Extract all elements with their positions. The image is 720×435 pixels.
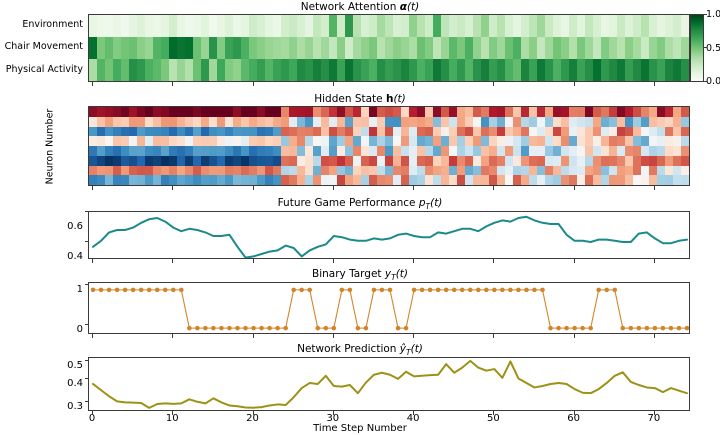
- heatmap-cell: [417, 107, 425, 117]
- heatmap-cell: [497, 166, 505, 176]
- heatmap-cell: [201, 156, 209, 166]
- heatmap-cell: [425, 136, 433, 146]
- heatmap-cell: [425, 175, 433, 185]
- binary-target-marker: [661, 326, 666, 331]
- heatmap-cell: [633, 37, 641, 59]
- heatmap-cell: [529, 166, 537, 176]
- heatmap-cell: [281, 59, 289, 81]
- heatmap-cell: [161, 156, 169, 166]
- heatmap-cell: [281, 156, 289, 166]
- heatmap-cell: [297, 156, 305, 166]
- heatmap-cell: [305, 117, 313, 127]
- heatmap-cell: [153, 37, 161, 59]
- binary-target-marker: [604, 288, 609, 293]
- heatmap-cell: [113, 117, 121, 127]
- attention-row-label-2: Physical Activity: [0, 64, 83, 75]
- hidden-state-row-1: [89, 117, 689, 127]
- heatmap-cell: [593, 166, 601, 176]
- performance-axes: [88, 211, 690, 259]
- heatmap-cell: [665, 127, 673, 137]
- x-tickmark: [574, 411, 575, 415]
- heatmap-cell: [345, 15, 353, 37]
- heatmap-cell: [185, 146, 193, 156]
- heatmap-cell: [601, 175, 609, 185]
- heatmap-cell: [457, 15, 465, 37]
- binary-target-marker: [131, 288, 136, 293]
- heatmap-cell: [201, 59, 209, 81]
- heatmap-cell: [385, 146, 393, 156]
- heatmap-cell: [297, 175, 305, 185]
- heatmap-cell: [377, 156, 385, 166]
- heatmap-cell: [289, 15, 297, 37]
- heatmap-cell: [305, 175, 313, 185]
- heatmap-cell: [177, 175, 185, 185]
- heatmap-cell: [137, 136, 145, 146]
- heatmap-cell: [281, 15, 289, 37]
- heatmap-cell: [393, 146, 401, 156]
- heatmap-cell: [617, 175, 625, 185]
- heatmap-cell: [609, 136, 617, 146]
- heatmap-cell: [113, 15, 121, 37]
- heatmap-cell: [409, 59, 417, 81]
- heatmap-cell: [145, 107, 153, 117]
- x-tickmark: [92, 186, 93, 190]
- heatmap-cell: [313, 146, 321, 156]
- heatmap-cell: [385, 175, 393, 185]
- heatmap-cell: [329, 166, 337, 176]
- heatmap-cell: [273, 37, 281, 59]
- heatmap-cell: [265, 136, 273, 146]
- heatmap-cell: [473, 37, 481, 59]
- heatmap-cell: [425, 37, 433, 59]
- heatmap-cell: [209, 107, 217, 117]
- heatmap-cell: [129, 166, 137, 176]
- heatmap-cell: [369, 59, 377, 81]
- heatmap-cell: [89, 136, 97, 146]
- heatmap-cell: [673, 107, 681, 117]
- heatmap-cell: [593, 127, 601, 137]
- heatmap-cell: [609, 107, 617, 117]
- heatmap-cell: [585, 127, 593, 137]
- heatmap-cell: [313, 156, 321, 166]
- heatmap-cell: [281, 37, 289, 59]
- heatmap-cell: [657, 166, 665, 176]
- heatmap-cell: [505, 136, 513, 146]
- heatmap-cell: [329, 107, 337, 117]
- heatmap-cell: [545, 15, 553, 37]
- binary-target-marker: [147, 288, 152, 293]
- heatmap-cell: [625, 146, 633, 156]
- heatmap-cell: [385, 59, 393, 81]
- heatmap-cell: [169, 107, 177, 117]
- heatmap-cell: [553, 166, 561, 176]
- heatmap-cell: [177, 59, 185, 81]
- heatmap-cell: [585, 37, 593, 59]
- heatmap-cell: [577, 175, 585, 185]
- heatmap-cell: [513, 146, 521, 156]
- heatmap-cell: [553, 175, 561, 185]
- heatmap-cell: [97, 107, 105, 117]
- heatmap-cell: [345, 156, 353, 166]
- hidden-state-row-6: [89, 166, 689, 176]
- heatmap-cell: [665, 156, 673, 166]
- attention-row-0: [89, 15, 689, 37]
- binary-target-marker: [524, 288, 529, 293]
- heatmap-cell: [489, 166, 497, 176]
- heatmap-cell: [177, 117, 185, 127]
- heatmap-cell: [177, 166, 185, 176]
- heatmap-cell: [217, 127, 225, 137]
- heatmap-cell: [665, 107, 673, 117]
- heatmap-cell: [369, 136, 377, 146]
- heatmap-cell: [289, 117, 297, 127]
- x-tickmark: [92, 82, 93, 86]
- heatmap-cell: [529, 146, 537, 156]
- heatmap-cell: [377, 37, 385, 59]
- x-tickmark: [92, 411, 93, 415]
- heatmap-cell: [265, 127, 273, 137]
- heatmap-cell: [353, 127, 361, 137]
- heatmap-cell: [401, 37, 409, 59]
- heatmap-cell: [417, 127, 425, 137]
- heatmap-cell: [257, 107, 265, 117]
- heatmap-cell: [161, 59, 169, 81]
- binary-target-marker: [516, 288, 521, 293]
- heatmap-cell: [633, 156, 641, 166]
- heatmap-cell: [233, 136, 241, 146]
- heatmap-cell: [465, 117, 473, 127]
- heatmap-cell: [601, 37, 609, 59]
- heatmap-cell: [233, 59, 241, 81]
- heatmap-cell: [97, 59, 105, 81]
- heatmap-cell: [569, 136, 577, 146]
- heatmap-cell: [609, 117, 617, 127]
- colorbar-tickmark: [704, 47, 707, 48]
- heatmap-cell: [217, 117, 225, 127]
- heatmap-cell: [601, 117, 609, 127]
- heatmap-cell: [529, 37, 537, 59]
- heatmap-cell: [497, 127, 505, 137]
- heatmap-cell: [681, 117, 689, 127]
- heatmap-cell: [185, 107, 193, 117]
- performance-title: Future Game Performance pT(t): [0, 197, 720, 211]
- heatmap-cell: [409, 15, 417, 37]
- hidden-state-title: Hidden State h(t): [0, 93, 720, 105]
- heatmap-cell: [241, 15, 249, 37]
- heatmap-cell: [617, 59, 625, 81]
- heatmap-cell: [233, 117, 241, 127]
- heatmap-cell: [513, 166, 521, 176]
- binary-target-marker: [275, 326, 280, 331]
- heatmap-cell: [265, 15, 273, 37]
- heatmap-cell: [545, 117, 553, 127]
- heatmap-cell: [489, 156, 497, 166]
- heatmap-cell: [625, 156, 633, 166]
- heatmap-cell: [145, 175, 153, 185]
- heatmap-cell: [385, 107, 393, 117]
- heatmap-cell: [441, 37, 449, 59]
- heatmap-cell: [241, 59, 249, 81]
- heatmap-cell: [417, 146, 425, 156]
- x-tickmark: [333, 411, 334, 415]
- heatmap-cell: [305, 15, 313, 37]
- heatmap-cell: [257, 59, 265, 81]
- heatmap-cell: [217, 175, 225, 185]
- heatmap-cell: [121, 166, 129, 176]
- heatmap-cell: [329, 15, 337, 37]
- heatmap-cell: [209, 166, 217, 176]
- heatmap-cell: [249, 156, 257, 166]
- heatmap-cell: [329, 117, 337, 127]
- x-tickmark: [574, 82, 575, 86]
- heatmap-cell: [561, 166, 569, 176]
- heatmap-cell: [281, 136, 289, 146]
- attention-colorbar: [690, 14, 704, 82]
- heatmap-cell: [537, 127, 545, 137]
- heatmap-cell: [369, 127, 377, 137]
- heatmap-cell: [249, 175, 257, 185]
- heatmap-cell: [673, 146, 681, 156]
- heatmap-cell: [129, 117, 137, 127]
- heatmap-cell: [641, 175, 649, 185]
- heatmap-cell: [113, 156, 121, 166]
- heatmap-cell: [377, 15, 385, 37]
- heatmap-cell: [225, 175, 233, 185]
- heatmap-cell: [113, 146, 121, 156]
- heatmap-cell: [593, 15, 601, 37]
- heatmap-cell: [585, 156, 593, 166]
- heatmap-cell: [337, 107, 345, 117]
- heatmap-cell: [417, 59, 425, 81]
- heatmap-cell: [449, 175, 457, 185]
- heatmap-cell: [433, 127, 441, 137]
- heatmap-cell: [673, 127, 681, 137]
- heatmap-cell: [609, 146, 617, 156]
- heatmap-cell: [329, 127, 337, 137]
- heatmap-cell: [313, 136, 321, 146]
- heatmap-cell: [433, 37, 441, 59]
- binary-target-marker: [203, 326, 208, 331]
- binary-target-marker: [179, 288, 184, 293]
- heatmap-cell: [641, 156, 649, 166]
- heatmap-cell: [441, 156, 449, 166]
- heatmap-cell: [401, 15, 409, 37]
- heatmap-cell: [345, 127, 353, 137]
- heatmap-cell: [249, 166, 257, 176]
- binary-target-marker: [677, 326, 682, 331]
- binary-target-marker: [653, 326, 658, 331]
- heatmap-cell: [169, 117, 177, 127]
- heatmap-cell: [489, 117, 497, 127]
- heatmap-cell: [465, 146, 473, 156]
- heatmap-cell: [177, 136, 185, 146]
- heatmap-cell: [441, 107, 449, 117]
- heatmap-cell: [409, 107, 417, 117]
- binary-target-marker: [388, 288, 393, 293]
- heatmap-cell: [153, 136, 161, 146]
- heatmap-cell: [193, 15, 201, 37]
- heatmap-cell: [673, 15, 681, 37]
- heatmap-cell: [225, 117, 233, 127]
- heatmap-cell: [345, 146, 353, 156]
- heatmap-cell: [473, 166, 481, 176]
- heatmap-cell: [97, 146, 105, 156]
- heatmap-cell: [321, 175, 329, 185]
- binary-target-marker: [436, 288, 441, 293]
- heatmap-cell: [641, 127, 649, 137]
- heatmap-cell: [481, 146, 489, 156]
- colorbar-tick-1: 1.0: [706, 9, 720, 20]
- binary-target-scatter-plot: [89, 283, 690, 334]
- heatmap-cell: [545, 136, 553, 146]
- heatmap-cell: [601, 136, 609, 146]
- heatmap-cell: [129, 156, 137, 166]
- heatmap-cell: [649, 107, 657, 117]
- heatmap-cell: [241, 107, 249, 117]
- heatmap-cell: [169, 136, 177, 146]
- heatmap-cell: [385, 156, 393, 166]
- heatmap-cell: [185, 59, 193, 81]
- heatmap-cell: [225, 127, 233, 137]
- heatmap-cell: [225, 59, 233, 81]
- heatmap-cell: [409, 117, 417, 127]
- heatmap-cell: [417, 15, 425, 37]
- heatmap-cell: [233, 127, 241, 137]
- binary-target-marker: [556, 326, 561, 331]
- heatmap-cell: [265, 37, 273, 59]
- heatmap-cell: [521, 175, 529, 185]
- heatmap-cell: [105, 127, 113, 137]
- heatmap-cell: [121, 107, 129, 117]
- heatmap-cell: [217, 37, 225, 59]
- x-tickmark: [172, 259, 173, 263]
- heatmap-cell: [449, 117, 457, 127]
- heatmap-cell: [609, 166, 617, 176]
- heatmap-cell: [617, 136, 625, 146]
- heatmap-cell: [457, 117, 465, 127]
- x-tickmark: [654, 186, 655, 190]
- heatmap-cell: [513, 136, 521, 146]
- heatmap-cell: [449, 107, 457, 117]
- binary-target-marker: [307, 288, 312, 293]
- heatmap-cell: [137, 146, 145, 156]
- binary-target-marker: [412, 288, 417, 293]
- heatmap-cell: [97, 175, 105, 185]
- heatmap-cell: [353, 37, 361, 59]
- x-tickmark: [172, 82, 173, 86]
- binary-target-marker: [548, 326, 553, 331]
- heatmap-cell: [529, 117, 537, 127]
- heatmap-cell: [113, 37, 121, 59]
- heatmap-cell: [313, 37, 321, 59]
- heatmap-cell: [169, 166, 177, 176]
- heatmap-cell: [417, 156, 425, 166]
- heatmap-cell: [89, 117, 97, 127]
- heatmap-cell: [289, 107, 297, 117]
- heatmap-cell: [393, 156, 401, 166]
- y-tickmark: [85, 360, 89, 361]
- heatmap-cell: [521, 127, 529, 137]
- binary-target-marker: [685, 326, 690, 331]
- heatmap-cell: [641, 117, 649, 127]
- heatmap-cell: [233, 107, 241, 117]
- heatmap-cell: [217, 107, 225, 117]
- heatmap-cell: [281, 166, 289, 176]
- heatmap-cell: [401, 127, 409, 137]
- heatmap-cell: [313, 15, 321, 37]
- heatmap-cell: [321, 127, 329, 137]
- heatmap-cell: [553, 156, 561, 166]
- heatmap-cell: [681, 175, 689, 185]
- heatmap-cell: [353, 156, 361, 166]
- heatmap-cell: [633, 59, 641, 81]
- binary-target-marker: [484, 288, 489, 293]
- heatmap-cell: [145, 37, 153, 59]
- hidden-state-row-0: [89, 107, 689, 117]
- heatmap-cell: [481, 156, 489, 166]
- heatmap-cell: [193, 175, 201, 185]
- heatmap-cell: [505, 37, 513, 59]
- heatmap-cell: [337, 37, 345, 59]
- heatmap-cell: [505, 117, 513, 127]
- heatmap-cell: [337, 127, 345, 137]
- heatmap-cell: [353, 107, 361, 117]
- heatmap-cell: [289, 146, 297, 156]
- heatmap-cell: [313, 117, 321, 127]
- panel-network-attention: Network Attention α(t) Environment Chair…: [0, 0, 720, 92]
- heatmap-cell: [385, 117, 393, 127]
- heatmap-cell: [441, 146, 449, 156]
- heatmap-cell: [585, 59, 593, 81]
- heatmap-cell: [529, 127, 537, 137]
- heatmap-cell: [169, 15, 177, 37]
- heatmap-cell: [601, 59, 609, 81]
- colorbar-tick-0: 0.0: [706, 76, 720, 87]
- heatmap-cell: [209, 156, 217, 166]
- heatmap-cell: [129, 59, 137, 81]
- heatmap-cell: [433, 156, 441, 166]
- performance-line-plot: [89, 212, 690, 259]
- heatmap-cell: [233, 37, 241, 59]
- heatmap-cell: [465, 166, 473, 176]
- heatmap-cell: [545, 107, 553, 117]
- heatmap-cell: [417, 136, 425, 146]
- heatmap-cell: [289, 156, 297, 166]
- heatmap-cell: [257, 127, 265, 137]
- heatmap-cell: [161, 136, 169, 146]
- heatmap-cell: [273, 166, 281, 176]
- heatmap-cell: [617, 37, 625, 59]
- heatmap-cell: [601, 107, 609, 117]
- heatmap-cell: [257, 166, 265, 176]
- heatmap-cell: [521, 107, 529, 117]
- heatmap-cell: [321, 107, 329, 117]
- heatmap-cell: [545, 37, 553, 59]
- prediction-ytick-2: 0.3: [40, 401, 83, 412]
- heatmap-cell: [401, 146, 409, 156]
- x-tickmark: [574, 334, 575, 338]
- heatmap-cell: [489, 15, 497, 37]
- heatmap-cell: [105, 15, 113, 37]
- hidden-state-heatmap: [89, 107, 689, 185]
- heatmap-cell: [633, 15, 641, 37]
- heatmap-cell: [569, 37, 577, 59]
- heatmap-cell: [209, 117, 217, 127]
- heatmap-cell: [169, 146, 177, 156]
- heatmap-cell: [617, 127, 625, 137]
- heatmap-cell: [441, 15, 449, 37]
- heatmap-cell: [105, 59, 113, 81]
